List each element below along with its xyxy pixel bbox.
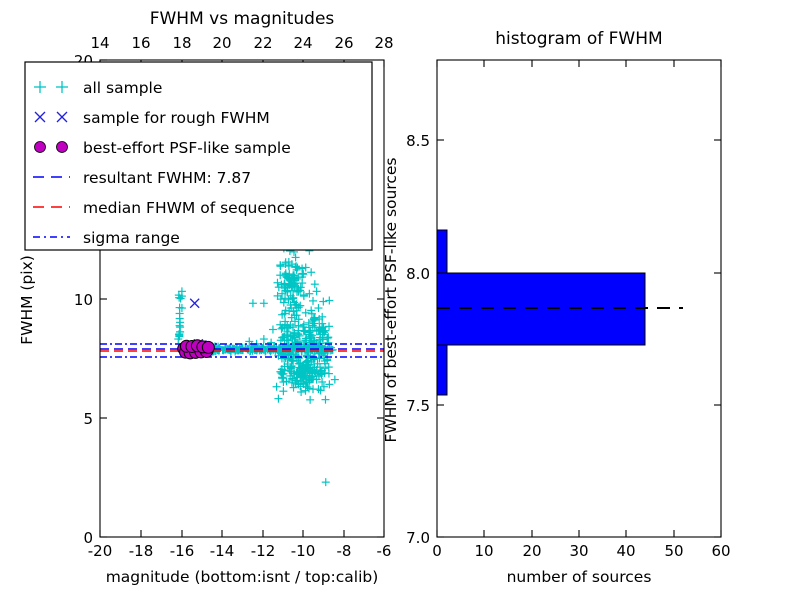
bottom-tick-label: -10 [291,542,316,560]
y-tick-label: 10 [74,291,93,309]
figure-canvas: FWHM vs magnitudes 14 16 18 20 22 24 26 … [0,0,800,600]
histogram-bar [437,345,447,395]
bottom-tick-label: -8 [337,542,352,560]
bottom-tick-label: -14 [210,542,235,560]
left-panel-top-tick-labels: 14 16 18 20 22 24 26 28 [90,34,393,52]
x-tick-label: 20 [522,542,541,560]
histogram-bar [437,230,447,273]
left-panel-title: FWHM vs magnitudes [150,9,335,29]
legend-label: best-effort PSF-like sample [83,139,291,157]
right-panel-data-area [437,230,683,395]
top-tick-label: 24 [293,34,312,52]
y-tick-label: 7.5 [406,397,430,415]
right-panel-x-tick-labels: 0 10 20 30 40 50 60 [432,542,730,560]
bottom-tick-label: -16 [170,542,195,560]
y-tick-label: 5 [83,410,93,428]
right-panel-ylabel: FWHM of best-effort PSF-like sources [382,157,400,442]
x-tick-label: 40 [616,542,635,560]
matplotlib-figure: FWHM vs magnitudes 14 16 18 20 22 24 26 … [0,0,800,600]
series-psf-like [178,340,215,359]
top-tick-label: 14 [90,34,109,52]
legend[interactable]: all sample sample for rough FWHM best-ef… [25,62,372,250]
x-tick-label: 60 [711,542,730,560]
right-panel-histogram: histogram of FWHM [382,29,731,586]
legend-label: median FHWM of sequence [83,199,295,217]
top-tick-label: 20 [212,34,231,52]
legend-label: resultant FWHM: 7.87 [83,169,251,187]
left-panel-bottom-ticks [100,530,384,537]
right-panel-xlabel: number of sources [507,568,652,586]
top-tick-label: 28 [374,34,393,52]
top-tick-label: 22 [253,34,272,52]
bottom-tick-label: -12 [251,542,276,560]
x-tick-label: 10 [474,542,493,560]
bottom-tick-label: -18 [129,542,154,560]
left-panel-bottom-tick-labels: -20 -18 -16 -14 -12 -10 -8 -6 [88,542,392,560]
legend-label: all sample [83,79,162,97]
left-panel-ylabel: FWHM (pix) [18,255,36,345]
x-tick-label: 50 [664,542,683,560]
x-tick-label: 0 [432,542,442,560]
y-tick-label: 7.0 [406,529,430,547]
x-tick-label: 30 [569,542,588,560]
legend-label: sigma range [83,229,180,247]
legend-label: sample for rough FWHM [83,109,270,127]
top-tick-label: 18 [172,34,191,52]
y-tick-label: 8.0 [406,265,430,283]
top-tick-label: 26 [334,34,353,52]
y-tick-label: 8.5 [406,132,430,150]
top-tick-label: 16 [131,34,150,52]
bottom-tick-label: -6 [377,542,392,560]
right-panel-y-tick-labels: 7.0 7.5 8.0 8.5 [406,132,430,547]
y-tick-label: 0 [83,529,93,547]
left-panel-xlabel: magnitude (bottom:isnt / top:calib) [106,568,379,586]
right-panel-title: histogram of FWHM [495,29,662,49]
